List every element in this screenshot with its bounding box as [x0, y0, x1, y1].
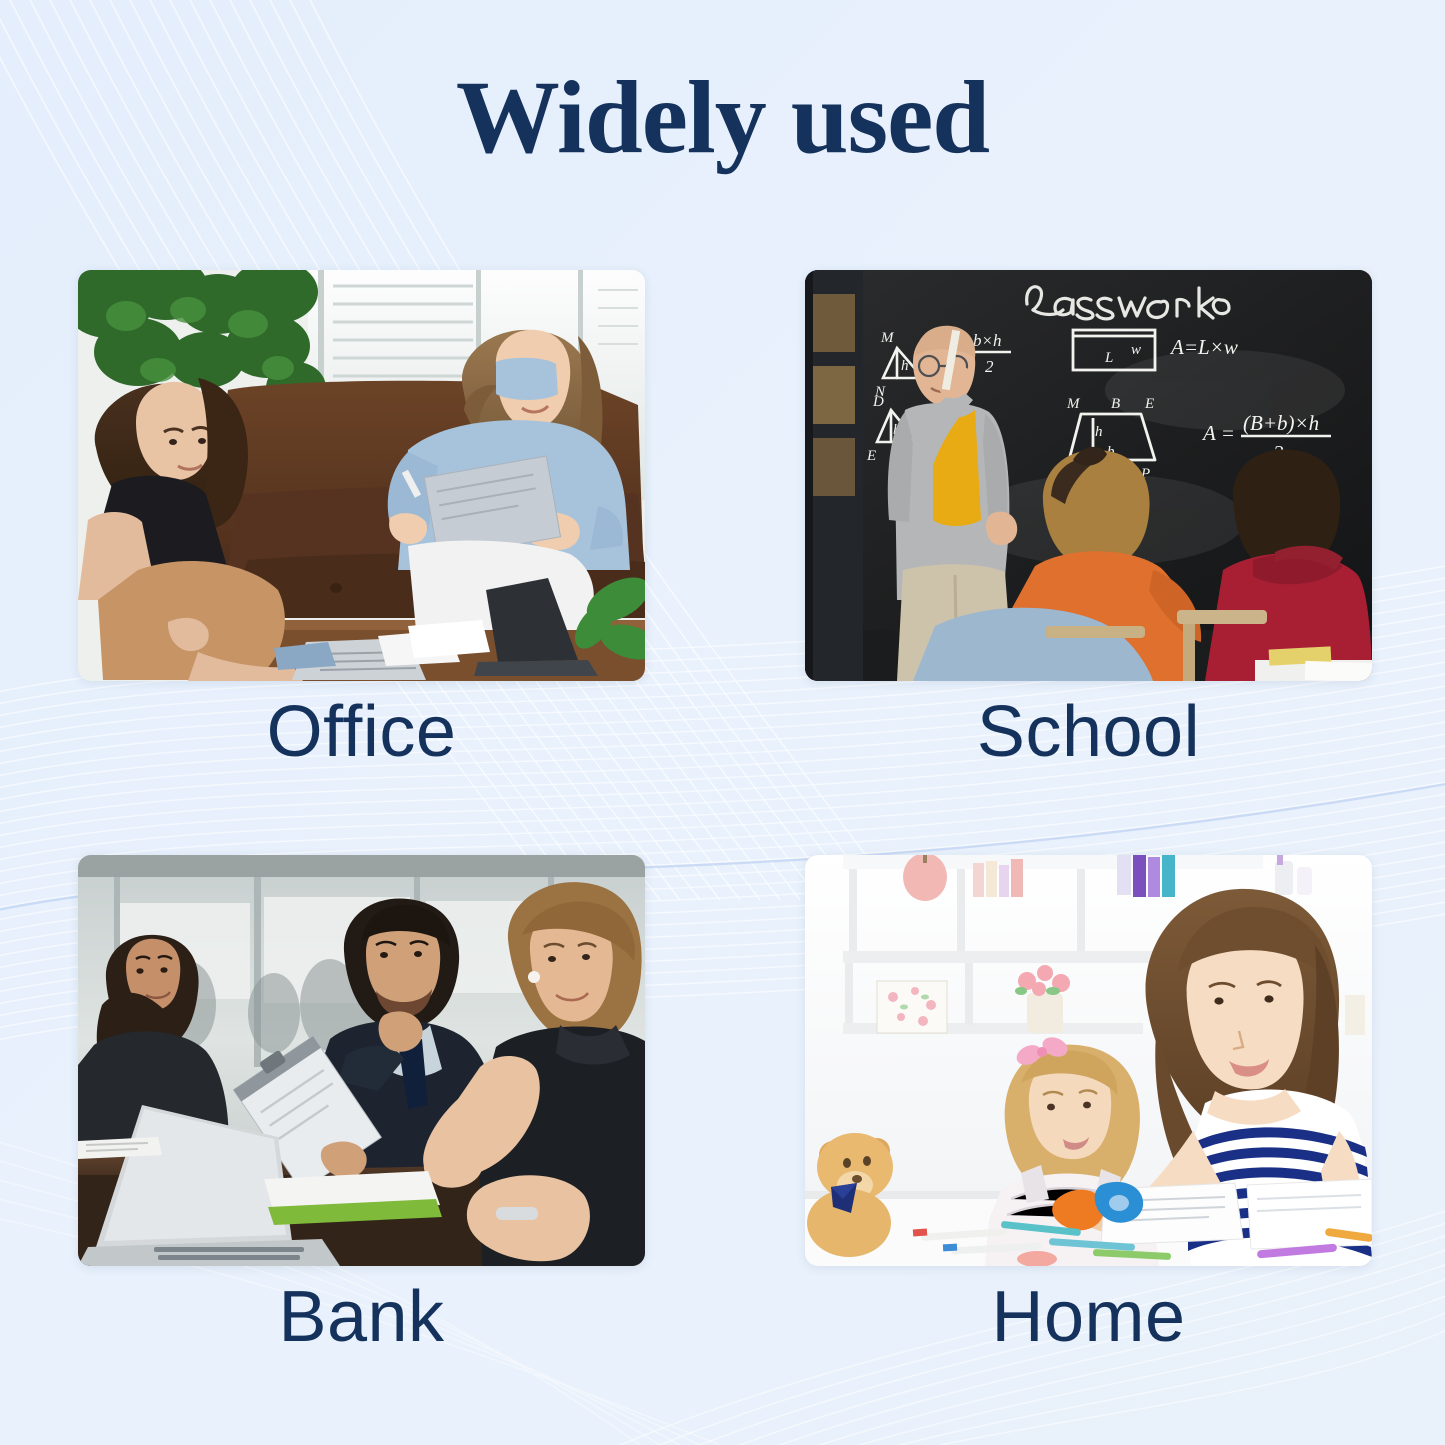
svg-text:b×h: b×h — [973, 331, 1001, 350]
svg-text:A =: A = — [1201, 421, 1235, 445]
svg-text:M: M — [880, 330, 895, 346]
use-case-card-school[interactable]: MhbN =b×h 2 Lw A=L×w — [805, 270, 1372, 771]
svg-text:M: M — [1066, 396, 1081, 412]
bank-photo — [78, 855, 645, 1266]
svg-text:L: L — [1104, 350, 1113, 366]
svg-text:2: 2 — [985, 357, 994, 376]
svg-text:E: E — [866, 448, 876, 464]
school-photo: MhbN =b×h 2 Lw A=L×w — [805, 270, 1372, 681]
office-photo — [78, 270, 645, 681]
home-photo — [805, 855, 1372, 1266]
svg-text:A=L×w: A=L×w — [1169, 335, 1238, 359]
card-label-home: Home — [805, 1280, 1372, 1356]
use-case-card-bank[interactable]: Bank — [78, 855, 645, 1356]
svg-text:h: h — [1095, 424, 1103, 440]
page-title: Widely used — [0, 58, 1445, 178]
infographic-page: Widely used — [0, 0, 1445, 1445]
svg-text:w: w — [1131, 342, 1141, 358]
svg-text:E: E — [1144, 396, 1154, 412]
card-label-office: Office — [78, 695, 645, 771]
svg-text:h: h — [901, 358, 909, 374]
svg-text:(B+b)×h: (B+b)×h — [1243, 411, 1319, 435]
svg-text:D: D — [872, 394, 884, 410]
use-case-card-home[interactable]: Home — [805, 855, 1372, 1356]
card-label-bank: Bank — [78, 1280, 645, 1356]
use-case-card-office[interactable]: Office — [78, 270, 645, 771]
card-label-school: School — [805, 695, 1372, 771]
svg-text:B: B — [1111, 396, 1120, 412]
